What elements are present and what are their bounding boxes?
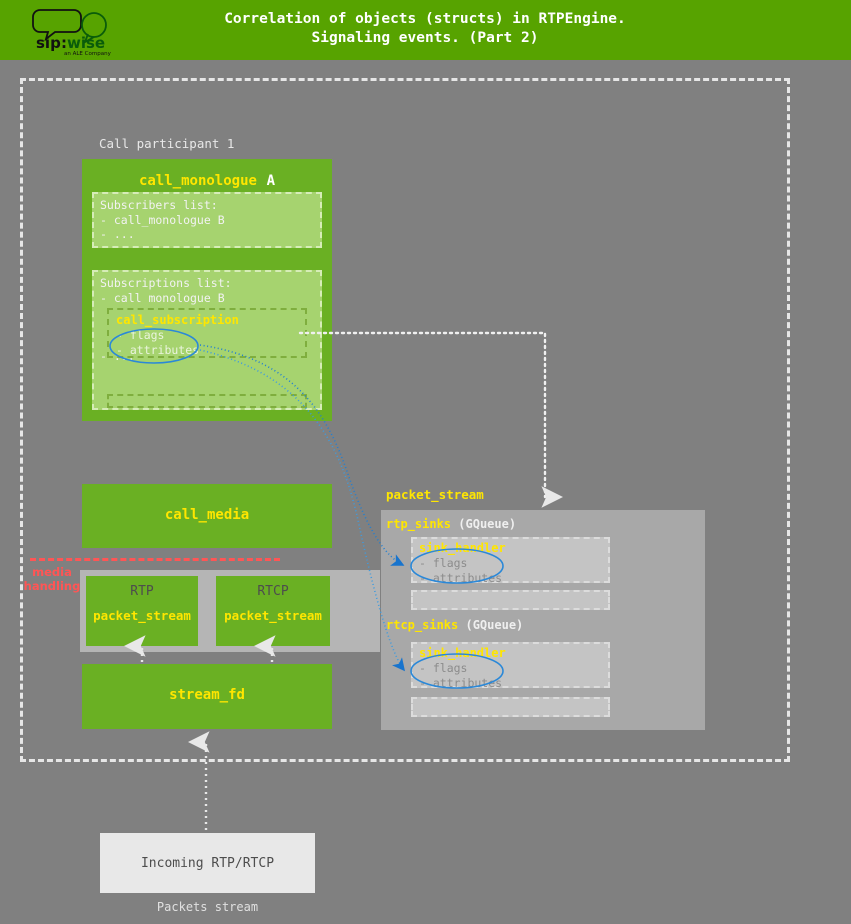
call-subscription-name: call_subscription: [116, 313, 298, 328]
rtp-sink-handler-box: sink_handler - flags - attributes: [411, 537, 610, 583]
subscribers-list-item-0: - call_monologue B: [100, 213, 314, 228]
rtp-sinks-label: rtp_sinks (GQueue): [386, 517, 516, 531]
page-header: sip : wise an ALE Company Correlation of…: [0, 0, 851, 60]
subscriptions-list-header: Subscriptions list:: [100, 276, 314, 291]
page-title-line2: Signaling events. (Part 2): [155, 29, 695, 48]
media-handling-label-line2: handling: [22, 579, 82, 593]
svg-text:wise: wise: [67, 34, 105, 52]
rtp-packet-stream-name: packet_stream: [86, 608, 198, 623]
call-media-name: call_media: [82, 507, 332, 523]
subscribers-list-panel: Subscribers list: - call_monologue B - .…: [92, 192, 322, 248]
stream-fd-box: stream_fd: [82, 664, 332, 729]
svg-text:an ALE Company: an ALE Company: [64, 51, 112, 56]
call-subscription-placeholder-box: [107, 394, 307, 408]
rtcp-caption: RTCP: [216, 584, 330, 599]
call-subscription-box: call_subscription - flags - attributes: [107, 308, 307, 358]
page-title-line1: Correlation of objects (structs) in RTPE…: [155, 10, 695, 29]
page-title: Correlation of objects (structs) in RTPE…: [155, 10, 695, 48]
rtcp-sink-handler-box: sink_handler - flags - attributes: [411, 642, 610, 688]
svg-text:sip: sip: [36, 34, 61, 52]
rtcp-sinks-label: rtcp_sinks (GQueue): [386, 618, 523, 632]
call-media-box: call_media: [82, 484, 332, 548]
rtcp-sink-handler-name: sink_handler: [419, 646, 602, 661]
rtp-sink-placeholder-box: [411, 590, 610, 610]
subscriptions-list-item-0: - call monologue B: [100, 291, 314, 306]
call-monologue-name: call_monologue: [139, 173, 257, 189]
rtcp-packet-stream-box: RTCP packet_stream: [216, 576, 330, 646]
rtp-sinks-type: (GQueue): [458, 517, 516, 531]
media-handling-divider: [30, 558, 280, 561]
packet-stream-panel-title: packet_stream: [386, 487, 484, 502]
stream-fd-name: stream_fd: [82, 687, 332, 703]
subscribers-list-header: Subscribers list:: [100, 198, 314, 213]
rtcp-sink-placeholder-box: [411, 697, 610, 717]
rtp-sink-handler-field-1: - attributes: [419, 571, 602, 586]
rtp-packet-stream-box: RTP packet_stream: [86, 576, 198, 646]
media-handling-label-line1: media: [22, 565, 82, 579]
packets-stream-caption: Packets stream: [100, 900, 315, 914]
incoming-rtp-rtcp-box: Incoming RTP/RTCP: [100, 833, 315, 893]
rtp-caption: RTP: [86, 584, 198, 599]
subscribers-list-item-1: - ...: [100, 227, 314, 242]
rtcp-packet-stream-name: packet_stream: [216, 608, 330, 623]
rtcp-sink-handler-field-0: - flags: [419, 661, 602, 676]
rtcp-sinks-type: (GQueue): [465, 618, 523, 632]
rtcp-sink-handler-field-1: - attributes: [419, 676, 602, 691]
diagram-canvas: sip : wise an ALE Company Correlation of…: [0, 0, 851, 924]
call-monologue-suffix: A: [267, 173, 275, 189]
call-subscription-field-0: - flags: [116, 328, 298, 343]
rtp-sinks-name: rtp_sinks: [386, 517, 451, 531]
rtp-sink-handler-name: sink_handler: [419, 541, 602, 556]
rtcp-sinks-name: rtcp_sinks: [386, 618, 458, 632]
call-subscription-field-1: - attributes: [116, 343, 298, 358]
sipwise-logo: sip : wise an ALE Company: [32, 4, 128, 56]
rtp-sink-handler-field-0: - flags: [419, 556, 602, 571]
call-participant-label: Call participant 1: [99, 136, 234, 151]
call-monologue-title: call_monologue A: [82, 170, 332, 189]
media-handling-label: media handling: [22, 565, 82, 593]
